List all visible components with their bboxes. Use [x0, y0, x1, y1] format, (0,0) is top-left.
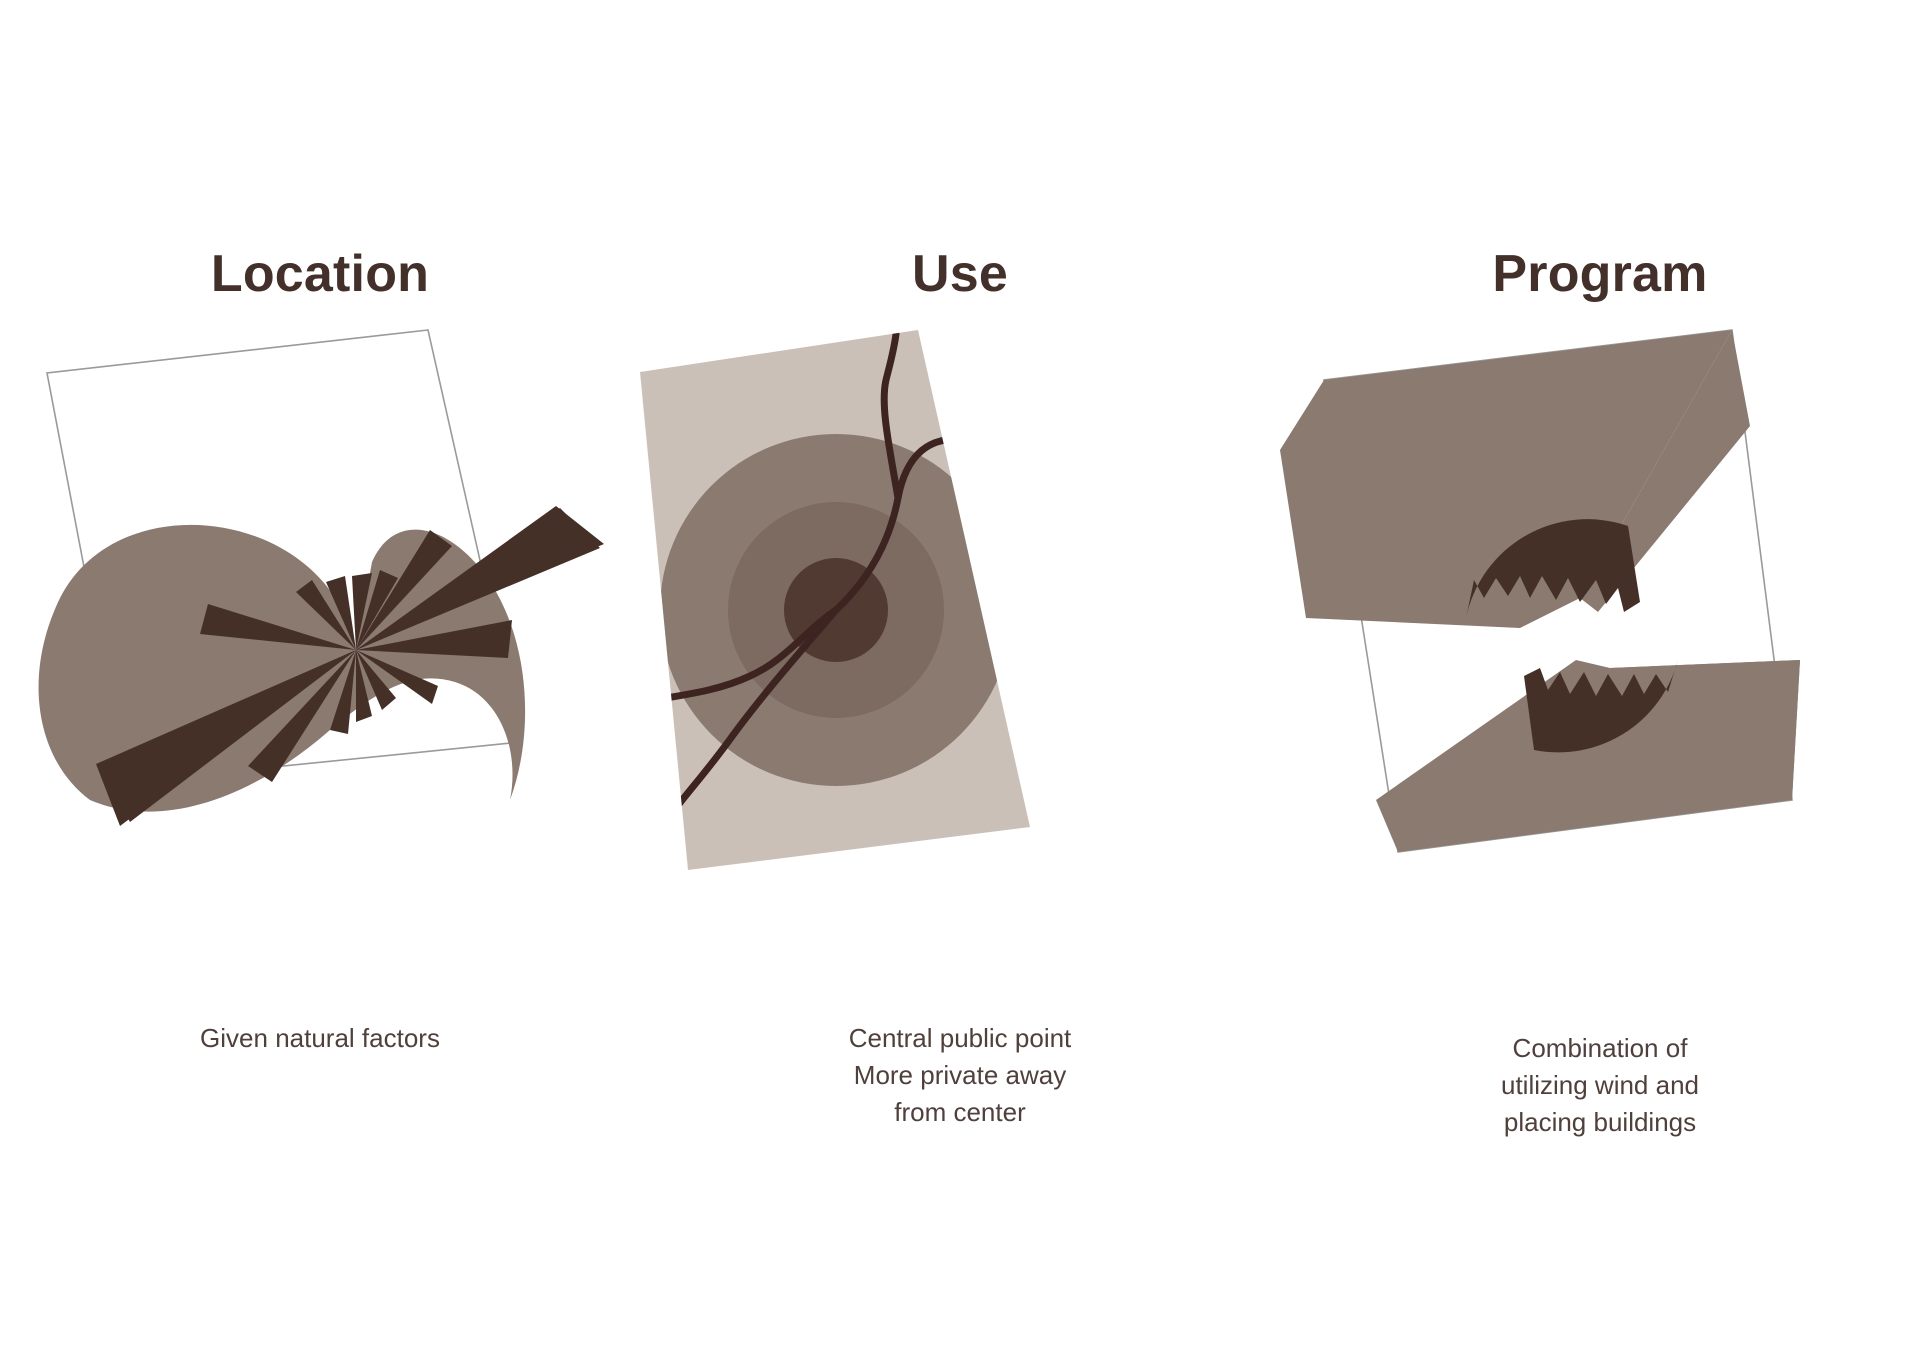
caption-line: Given natural factors	[0, 1020, 640, 1057]
figure-use-zones	[640, 330, 1280, 950]
caption-line: Central public point	[640, 1020, 1280, 1057]
panel-row: Location	[0, 0, 1920, 1357]
panel-title-program: Program	[1280, 248, 1920, 300]
caption-line: More private away	[640, 1057, 1280, 1094]
caption-line: utilizing wind and	[1280, 1067, 1920, 1104]
figure-program-massing	[1280, 330, 1920, 950]
diagram-board: Location	[0, 0, 1920, 1357]
panel-title-location: Location	[0, 248, 640, 300]
caption-location: Given natural factors	[0, 1020, 640, 1057]
figure-location-wind-rose	[0, 330, 640, 950]
caption-program: Combination of utilizing wind and placin…	[1280, 1030, 1920, 1141]
panel-location: Location	[0, 0, 640, 1357]
panel-program: Program	[1280, 0, 1920, 1357]
panel-title-use: Use	[640, 248, 1280, 300]
caption-line: Combination of	[1280, 1030, 1920, 1067]
panel-use: Use	[640, 0, 1280, 1357]
caption-use: Central public point More private away f…	[640, 1020, 1280, 1131]
caption-line: from center	[640, 1094, 1280, 1131]
caption-line: placing buildings	[1280, 1104, 1920, 1141]
